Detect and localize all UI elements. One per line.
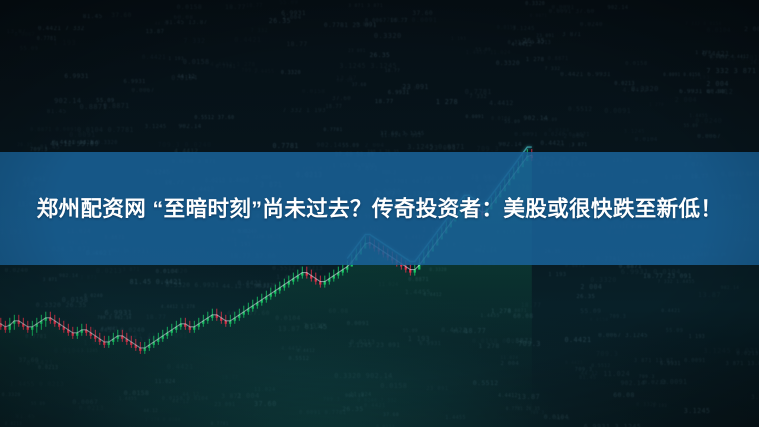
headline-banner: 郑州配资网 “至暗时刻”尚未过去？传奇投资者：美股或很快跌至新低！: [0, 152, 759, 265]
headline-text: 郑州配资网 “至暗时刻”尚未过去？传奇投资者：美股或很快跌至新低！: [37, 191, 723, 227]
screenshot-root: 23 0910.0240 7 3320.55120.442118.7726.35…: [0, 0, 759, 427]
